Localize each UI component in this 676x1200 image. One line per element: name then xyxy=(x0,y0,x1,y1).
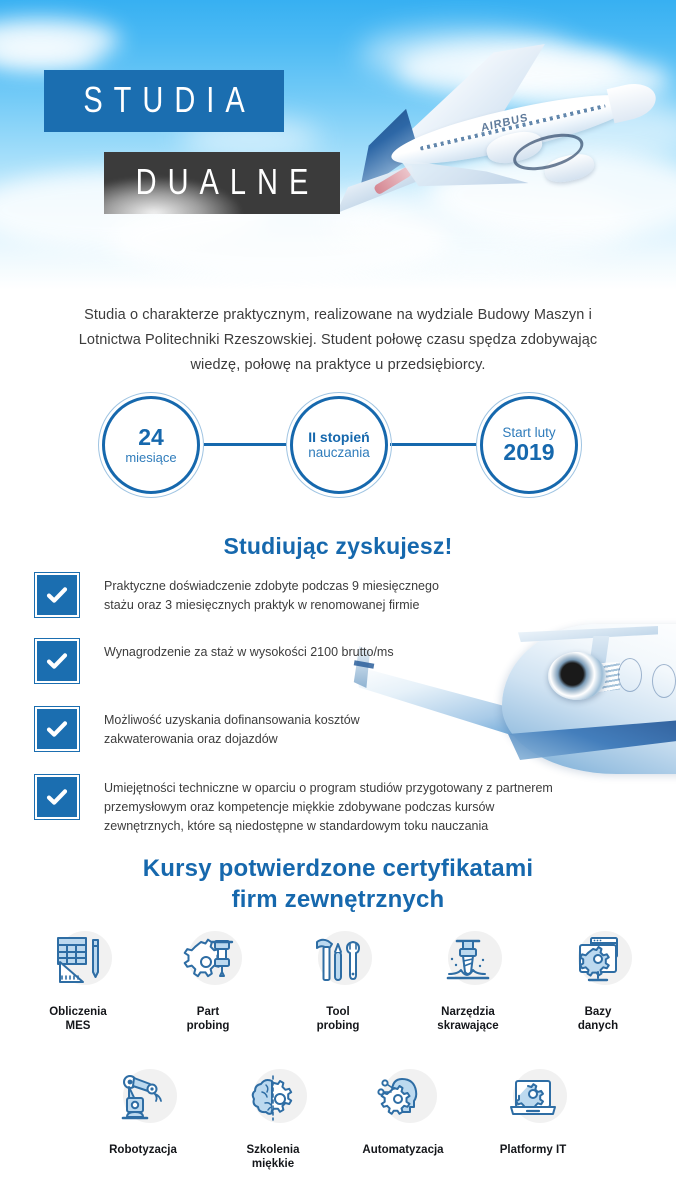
course-icon-row: Robotyzacja Szkoleniamiękkie xyxy=(0,1063,676,1171)
robot-arm-icon xyxy=(107,1063,179,1135)
course-item-automatyzacja[interactable]: Automatyzacja xyxy=(349,1063,457,1157)
course-label: Narzędziaskrawające xyxy=(437,1005,498,1033)
stat-circle-duration: 24 miesiące xyxy=(98,392,204,498)
stat-label: miesiące xyxy=(125,451,176,466)
checklist-item-text: Możliwość uzyskania dofinansowania koszt… xyxy=(104,706,404,749)
checklist-item-text: Praktyczne doświadczenie zdobyte podczas… xyxy=(104,572,464,615)
stat-value: II stopień xyxy=(308,430,369,446)
course-label: ObliczeniaMES xyxy=(49,1005,107,1033)
intro-paragraph: Studia o charakterze praktycznym, realiz… xyxy=(58,303,618,378)
benefits-heading: Studiując zyskujesz! xyxy=(0,533,676,560)
stat-circle-start-date: Start luty 2019 xyxy=(476,392,582,498)
airplane-nose xyxy=(607,79,660,123)
title-line-2: DUALNE xyxy=(125,162,320,203)
course-label: Bazydanych xyxy=(578,1005,618,1033)
cloud-decor xyxy=(0,36,100,70)
brain-gear-icon xyxy=(237,1063,309,1135)
course-item-tool-probing[interactable]: Toolprobing xyxy=(284,925,392,1033)
course-item-szkolenia-miekkie[interactable]: Szkoleniamiękkie xyxy=(219,1063,327,1171)
checkmark-icon xyxy=(34,572,80,618)
gear-probe-icon xyxy=(172,925,244,997)
course-item-platformy-it[interactable]: Platformy IT xyxy=(479,1063,587,1157)
course-icon-row: ObliczeniaMES Partprobing xyxy=(0,925,676,1033)
stat-value: 24 xyxy=(138,425,164,451)
course-label: Partprobing xyxy=(187,1005,230,1033)
course-item-robotyzacja[interactable]: Robotyzacja xyxy=(89,1063,197,1157)
course-item-obliczenia-mes[interactable]: ObliczeniaMES xyxy=(24,925,132,1033)
hammer-wrench-screwdriver-icon xyxy=(302,925,374,997)
course-label: Platformy IT xyxy=(500,1143,566,1157)
course-label: Robotyzacja xyxy=(109,1143,177,1157)
stat-label: nauczania xyxy=(308,445,370,460)
circle-connector-line xyxy=(390,443,476,446)
course-item-narzedzia-skrawajace[interactable]: Narzędziaskrawające xyxy=(414,925,522,1033)
title-banner-secondary: DUALNE xyxy=(104,152,340,214)
checkmark-icon xyxy=(34,706,80,752)
stat-value: 2019 xyxy=(503,440,554,466)
monitor-gear-icon xyxy=(562,925,634,997)
checklist-item: Wynagrodzenie za staż w wysokości 2100 b… xyxy=(0,638,676,684)
courses-heading-line-2: firm zewnętrznych xyxy=(0,884,676,915)
checklist-item: Możliwość uzyskania dofinansowania koszt… xyxy=(0,706,676,752)
benefits-checklist: Praktyczne doświadczenie zdobyte podczas… xyxy=(0,572,676,854)
course-item-bazy-danych[interactable]: Bazydanych xyxy=(544,925,652,1033)
stat-label: Start luty xyxy=(502,425,555,440)
course-label: Automatyzacja xyxy=(362,1143,443,1157)
hero-sky-banner: AIRBUS STUDIA DUALNE xyxy=(0,0,676,290)
stat-circle-degree: II stopień nauczania xyxy=(286,392,392,498)
stats-circle-row: 24 miesiące II stopień nauczania Start l… xyxy=(0,388,676,500)
course-label: Toolprobing xyxy=(317,1005,360,1033)
laptop-gear-icon xyxy=(497,1063,569,1135)
title-banner-primary: STUDIA xyxy=(44,70,284,132)
checklist-item: Praktyczne doświadczenie zdobyte podczas… xyxy=(0,572,676,618)
courses-heading-line-1: Kursy potwierdzone certyfikatami xyxy=(0,853,676,884)
checklist-item-text: Wynagrodzenie za staż w wysokości 2100 b… xyxy=(104,638,394,662)
title-line-1: STUDIA xyxy=(72,80,255,121)
infographic-page: AIRBUS STUDIA DUALNE Studia o charakterz… xyxy=(0,0,676,1200)
courses-heading: Kursy potwierdzone certyfikatami firm ze… xyxy=(0,853,676,915)
circle-connector-line xyxy=(204,443,286,446)
course-item-part-probing[interactable]: Partprobing xyxy=(154,925,262,1033)
checklist-item: Umiejętności techniczne w oparciu o prog… xyxy=(0,774,676,836)
drill-bit-icon xyxy=(432,925,504,997)
checkmark-icon xyxy=(34,638,80,684)
course-label: Szkoleniamiękkie xyxy=(246,1143,299,1171)
head-gear-network-icon xyxy=(367,1063,439,1135)
checkmark-icon xyxy=(34,774,80,820)
calculator-ruler-pencil-icon xyxy=(42,925,114,997)
checklist-item-text: Umiejętności techniczne w oparciu o prog… xyxy=(104,774,574,836)
course-icon-grid: ObliczeniaMES Partprobing xyxy=(0,925,676,1171)
